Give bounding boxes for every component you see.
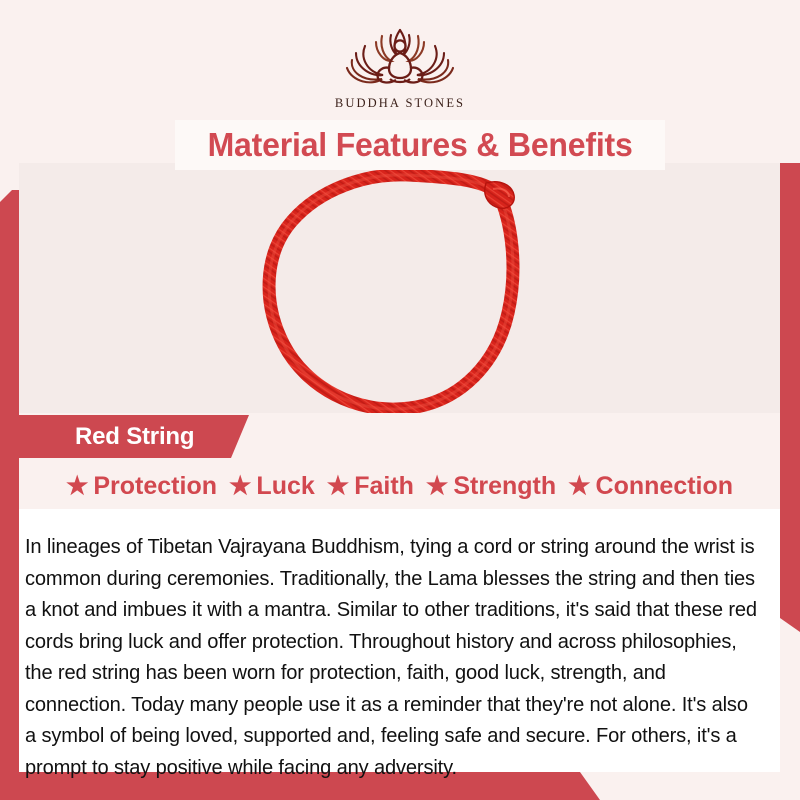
benefit-item: ★ Faith — [327, 472, 414, 501]
brand-name: BUDDHA STONES — [20, 96, 780, 111]
benefit-item: ★ Luck — [229, 472, 315, 501]
page-title: Material Features & Benefits — [207, 126, 632, 164]
benefit-label: Connection — [596, 472, 734, 501]
description-text: In lineages of Tibetan Vajrayana Buddhis… — [25, 532, 759, 784]
decoration-top-band — [0, 0, 800, 16]
lotus-meditation-icon — [334, 20, 466, 94]
benefit-item: ★ Strength — [426, 472, 556, 501]
benefit-item: ★ Connection — [568, 472, 733, 501]
star-icon: ★ — [568, 474, 590, 499]
product-image-panel — [19, 163, 780, 413]
header-inner: BUDDHA STONES Material Features & Benefi… — [20, 16, 780, 163]
benefit-label: Strength — [453, 472, 556, 501]
benefits-row: ★ Protection ★ Luck ★ Faith ★ Strength ★… — [19, 464, 780, 509]
red-string-bracelet-image — [250, 163, 550, 413]
brand-logo: BUDDHA STONES — [20, 20, 780, 111]
description-panel: In lineages of Tibetan Vajrayana Buddhis… — [19, 509, 780, 772]
decoration-left-strip — [0, 190, 19, 775]
header: BUDDHA STONES Material Features & Benefi… — [0, 0, 800, 163]
material-ribbon: Red String — [19, 415, 249, 458]
star-icon: ★ — [229, 474, 251, 499]
star-icon: ★ — [66, 474, 88, 499]
benefit-label: Faith — [354, 472, 414, 501]
benefit-label: Luck — [256, 472, 314, 501]
benefit-item: ★ Protection — [66, 472, 217, 501]
decoration-right-strip — [780, 0, 800, 632]
star-icon: ★ — [327, 474, 349, 499]
material-label: Red String — [75, 423, 194, 451]
infographic-card: BUDDHA STONES Material Features & Benefi… — [0, 0, 800, 800]
benefit-label: Protection — [93, 472, 217, 501]
star-icon: ★ — [426, 474, 448, 499]
